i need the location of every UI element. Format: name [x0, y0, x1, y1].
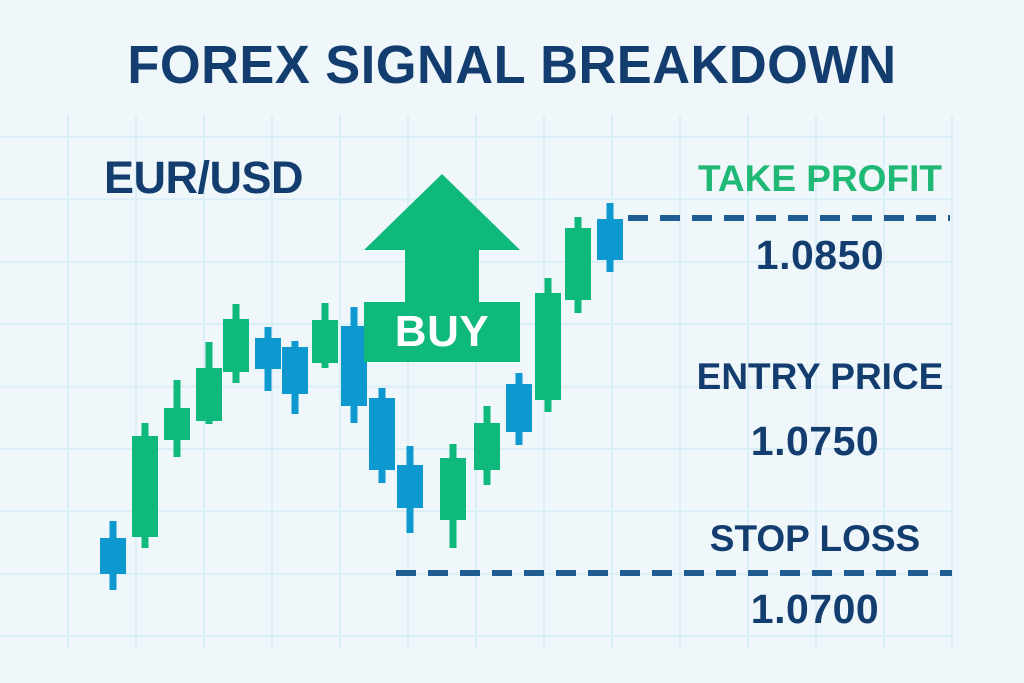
- entry-price-value: 1.0750: [650, 418, 980, 465]
- entry-price-title: ENTRY PRICE: [650, 356, 990, 398]
- stop-loss-title: STOP LOSS: [650, 518, 980, 560]
- take-profit-value: 1.0850: [660, 232, 980, 279]
- buy-arrow-icon[interactable]: [362, 172, 522, 372]
- take-profit-title: TAKE PROFIT: [660, 158, 980, 200]
- stop-loss-line: [396, 570, 952, 576]
- stop-loss-value: 1.0700: [650, 586, 980, 633]
- take-profit-line: [628, 215, 950, 221]
- poster-canvas: FOREX SIGNAL BREAKDOWN EUR/USD BUY TAKE …: [0, 0, 1024, 683]
